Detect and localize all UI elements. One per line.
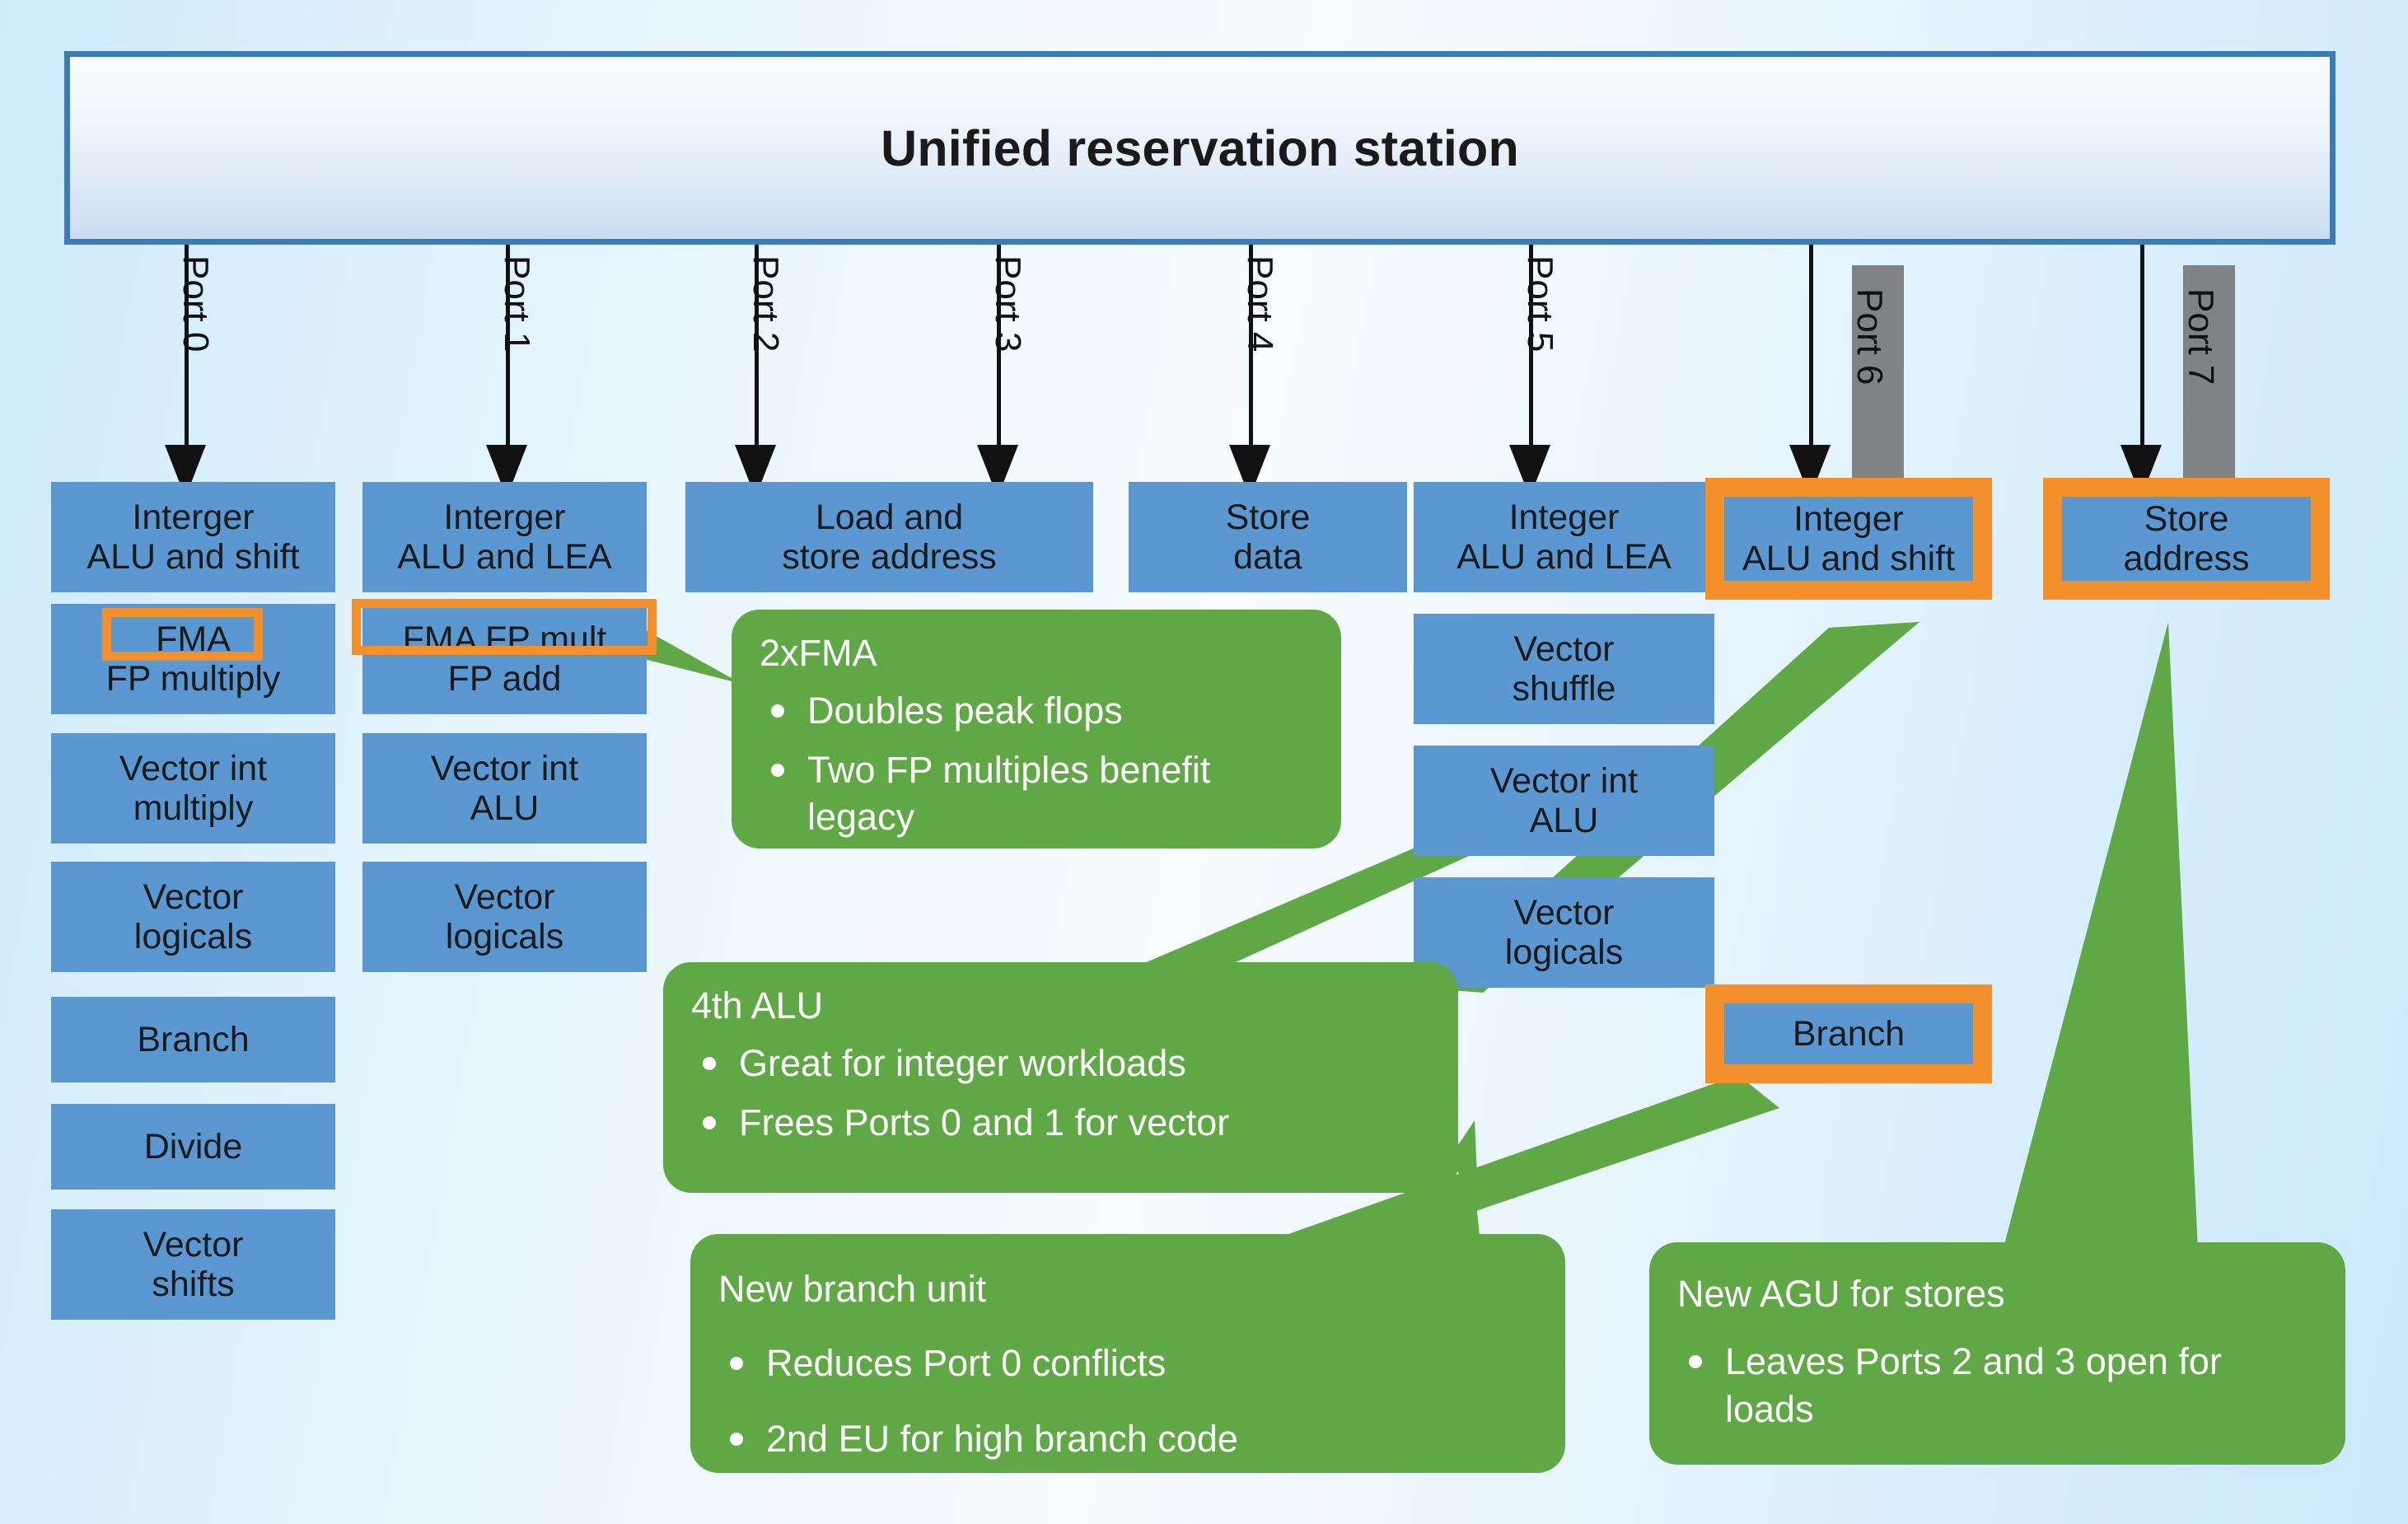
unit-line2: logicals xyxy=(134,917,252,956)
port-label-4: Port 4 xyxy=(1239,255,1280,352)
unit-line2: ALU and LEA xyxy=(397,537,612,577)
port-label-3: Port 3 xyxy=(987,255,1028,352)
unit-port6-integer-alu-and-shift: IntegerALU and shift xyxy=(1705,478,1992,600)
unit-port1-2: Vector intALU xyxy=(362,733,647,844)
unit-port5-1: Vectorshuffle xyxy=(1414,614,1714,724)
callout-new-branch-unit: New branch unit Reduces Port 0 conflicts… xyxy=(690,1234,1565,1473)
callout-bullet: Frees Ports 0 and 1 for vector xyxy=(691,1099,1430,1147)
callout-2xfma: 2xFMA Doubles peak flops Two FP multiple… xyxy=(732,610,1341,848)
callout-bullets: Doubles peak flops Two FP multiples bene… xyxy=(760,687,1313,841)
port-line-6 xyxy=(1809,245,1813,446)
unit-line2: address xyxy=(2124,539,2250,578)
unit-port0-1: FMAFP multiply xyxy=(51,604,335,714)
unit-line1: Store xyxy=(1226,498,1311,537)
unit-line1: Vector int xyxy=(1490,761,1638,801)
unit-line1: Vector int xyxy=(431,749,578,788)
port-label-6: Port 6 xyxy=(1849,288,1890,385)
connector-agu xyxy=(1994,622,2200,1285)
unit-line2: ALU xyxy=(470,788,540,828)
unit-line2: ALU and LEA xyxy=(1456,537,1672,577)
unit-line2: FP multiply xyxy=(106,659,281,699)
unit-line2: ALU and shift xyxy=(1742,539,1955,578)
callout-bullet: Two FP multiples benefit legacy xyxy=(760,746,1313,841)
port-label-7: Port 7 xyxy=(2180,288,2221,385)
unit-port4-store-data: Storedata xyxy=(1129,482,1407,592)
unit-line1: Interger xyxy=(132,498,254,537)
port-label-0: Port 0 xyxy=(175,255,216,352)
port-label-2: Port 2 xyxy=(745,255,786,352)
unit-line1: Interger xyxy=(443,498,565,537)
unit-line1: FMA xyxy=(156,619,231,659)
callout-bullet: Reduces Port 0 conflicts xyxy=(718,1339,1537,1387)
unit-line1: Vector xyxy=(143,877,244,917)
unit-line1: FMA FP mult xyxy=(403,619,607,659)
unit-port0-5: Divide xyxy=(51,1104,335,1190)
unit-line2: ALU xyxy=(1530,801,1599,840)
unit-port0-0: IntergerALU and shift xyxy=(51,482,335,592)
unit-line2: logicals xyxy=(446,917,563,956)
unit-line1: Branch xyxy=(137,1020,249,1059)
unit-port1-1: FMA FP multFP add xyxy=(362,604,647,714)
callout-title: New AGU for stores xyxy=(1677,1272,2317,1316)
unit-line1: Vector xyxy=(1514,893,1615,933)
unit-port0-6: Vectorshifts xyxy=(51,1209,335,1320)
unit-line2: logicals xyxy=(1505,933,1623,972)
unit-line2: FP add xyxy=(448,659,562,699)
unit-port1-0: IntergerALU and LEA xyxy=(362,482,647,592)
unit-line1: Load and xyxy=(816,498,963,537)
unit-line2: store address xyxy=(782,537,997,577)
callout-4th-alu: 4th ALU Great for integer workloads Free… xyxy=(663,962,1458,1193)
unit-line1: Vector xyxy=(455,877,555,917)
callout-bullets: Leaves Ports 2 and 3 open for loads xyxy=(1677,1338,2317,1433)
unit-line1: Integer xyxy=(1509,498,1620,537)
callout-bullets: Great for integer workloads Frees Ports … xyxy=(691,1040,1430,1146)
callout-bullet: Great for integer workloads xyxy=(691,1040,1430,1087)
unit-port1-3: Vectorlogicals xyxy=(362,862,647,972)
unit-line2: shifts xyxy=(152,1265,234,1304)
callout-new-agu-for-stores: New AGU for stores Leaves Ports 2 and 3 … xyxy=(1649,1242,2345,1465)
unit-port7-store-address: Storeaddress xyxy=(2043,478,2330,600)
unit-line2: ALU and shift xyxy=(87,537,299,577)
diagram-canvas: Unified reservation station Port 0 Port … xyxy=(0,0,2408,1524)
callout-title: New branch unit xyxy=(718,1267,1537,1311)
unit-port5-3: Vectorlogicals xyxy=(1414,877,1714,988)
unit-port0-3: Vectorlogicals xyxy=(51,862,335,972)
unit-port6-branch: Branch xyxy=(1705,984,1992,1083)
port-label-1: Port 1 xyxy=(496,255,537,352)
port-label-5: Port 5 xyxy=(1519,255,1560,352)
callout-bullets: Reduces Port 0 conflicts 2nd EU for high… xyxy=(718,1339,1537,1462)
unit-line1: Vector xyxy=(143,1225,244,1265)
unit-line2: data xyxy=(1233,537,1302,577)
callout-bullet: Leaves Ports 2 and 3 open for loads xyxy=(1677,1338,2317,1433)
unit-line1: Integer xyxy=(1793,499,1904,539)
unit-line2: shuffle xyxy=(1513,669,1616,708)
unit-line1: Divide xyxy=(144,1127,243,1166)
unit-port0-4: Branch xyxy=(51,997,335,1082)
unit-line1: Vector int xyxy=(119,749,267,788)
unit-line1: Vector xyxy=(1514,629,1615,669)
connector-fma xyxy=(644,629,741,684)
callout-bullet: 2nd EU for high branch code xyxy=(718,1415,1537,1463)
callout-title: 4th ALU xyxy=(691,984,1430,1028)
unit-port5-2: Vector intALU xyxy=(1414,746,1714,856)
unit-port23-load-store-address: Load andstore address xyxy=(685,482,1093,592)
unit-line1: Branch xyxy=(1793,1014,1905,1054)
port-line-7 xyxy=(2140,245,2144,446)
unit-port5-0: IntegerALU and LEA xyxy=(1414,482,1714,592)
callout-bullet: Doubles peak flops xyxy=(760,687,1313,735)
unit-line1: Store xyxy=(2144,499,2229,539)
callout-title: 2xFMA xyxy=(760,631,1313,676)
unit-port0-2: Vector intmultiply xyxy=(51,733,335,844)
unit-line2: multiply xyxy=(133,788,254,828)
